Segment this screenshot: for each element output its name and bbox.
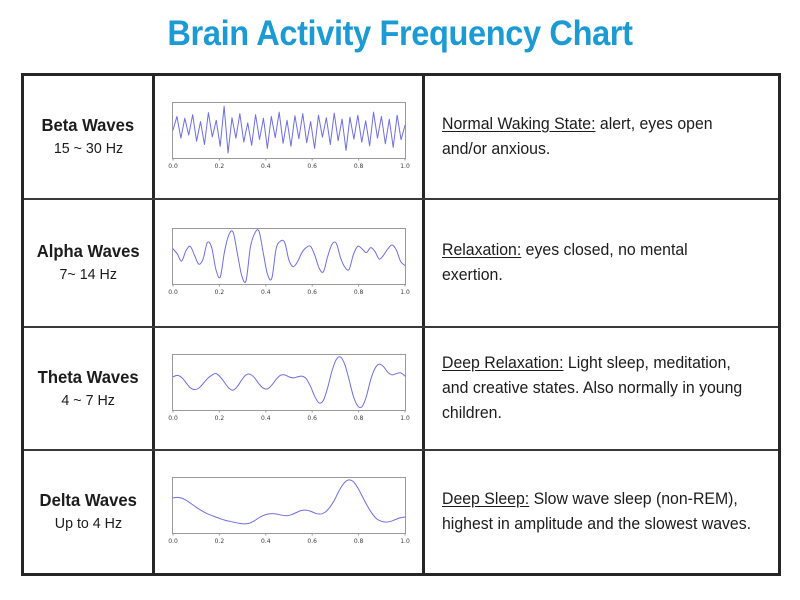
x-tick-label: 0.0 xyxy=(168,415,178,422)
x-tick-label: 1.0 xyxy=(400,538,410,545)
x-tick-label: 0.4 xyxy=(261,289,271,296)
waveform-svg: 0.00.20.40.60.81.0 xyxy=(167,100,411,174)
description-term: Deep Sleep: xyxy=(442,490,529,508)
description-term: Normal Waking State: xyxy=(442,115,595,133)
wave-name-cell: Beta Waves 15 ~ 30 Hz xyxy=(24,76,155,198)
wave-description-cell: Deep Sleep: Slow wave sleep (non-REM), h… xyxy=(425,451,778,573)
wave-frequency-label: Up to 4 Hz xyxy=(54,513,121,535)
x-axis-ticks: 0.00.20.40.60.81.0 xyxy=(168,158,410,170)
wave-description-cell: Relaxation: eyes closed, no mental exert… xyxy=(425,200,778,326)
x-tick-label: 0.2 xyxy=(214,415,224,422)
x-tick-label: 0.6 xyxy=(307,163,317,170)
wave-description-cell: Deep Relaxation: Light sleep, meditation… xyxy=(425,328,778,449)
wave-description: Normal Waking State: alert, eyes open an… xyxy=(442,112,751,162)
wave-frequency-label: 7~ 14 Hz xyxy=(59,264,116,286)
waveform-plot-beta: 0.00.20.40.60.81.0 xyxy=(167,100,411,174)
x-tick-label: 0.2 xyxy=(214,538,224,545)
waveform-plot-delta: 0.00.20.40.60.81.0 xyxy=(167,475,411,549)
x-tick-label: 0.4 xyxy=(261,538,271,545)
wave-description: Deep Sleep: Slow wave sleep (non-REM), h… xyxy=(442,487,751,537)
wave-name-cell: Theta Waves 4 ~ 7 Hz xyxy=(24,328,155,449)
x-tick-label: 1.0 xyxy=(400,289,410,296)
x-tick-label: 0.8 xyxy=(353,289,363,296)
brain-activity-chart-page: Brain Activity Frequency Chart Beta Wave… xyxy=(0,0,800,600)
wave-frequency-label: 15 ~ 30 Hz xyxy=(53,138,122,160)
waveform-svg: 0.00.20.40.60.81.0 xyxy=(167,226,411,300)
waveform-svg: 0.00.20.40.60.81.0 xyxy=(167,352,411,426)
wave-description-cell: Normal Waking State: alert, eyes open an… xyxy=(425,76,778,198)
wave-name-label: Theta Waves xyxy=(37,366,138,389)
x-tick-label: 0.6 xyxy=(307,538,317,545)
description-term: Relaxation: xyxy=(442,241,521,259)
x-tick-label: 0.4 xyxy=(261,415,271,422)
table-row: Delta Waves Up to 4 Hz 0.00.20.40.60.81.… xyxy=(24,451,778,573)
x-tick-label: 0.6 xyxy=(307,289,317,296)
x-tick-label: 0.8 xyxy=(353,163,363,170)
page-title: Brain Activity Frequency Chart xyxy=(28,14,772,54)
description-term: Deep Relaxation: xyxy=(442,354,564,372)
x-tick-label: 0.2 xyxy=(214,163,224,170)
wave-plot-cell: 0.00.20.40.60.81.0 xyxy=(155,328,425,449)
x-tick-label: 0.6 xyxy=(307,415,317,422)
x-tick-label: 0.0 xyxy=(168,163,178,170)
wave-description: Deep Relaxation: Light sleep, meditation… xyxy=(442,351,751,426)
wave-name-label: Delta Waves xyxy=(39,489,136,512)
x-axis-ticks: 0.00.20.40.60.81.0 xyxy=(168,284,410,296)
wave-frequency-label: 4 ~ 7 Hz xyxy=(61,390,114,412)
wave-plot-cell: 0.00.20.40.60.81.0 xyxy=(155,200,425,326)
x-tick-label: 0.4 xyxy=(261,163,271,170)
x-tick-label: 0.8 xyxy=(353,415,363,422)
x-tick-label: 0.0 xyxy=(168,289,178,296)
x-tick-label: 0.8 xyxy=(353,538,363,545)
wave-name-label: Beta Waves xyxy=(42,114,135,137)
table-row: Theta Waves 4 ~ 7 Hz 0.00.20.40.60.81.0 … xyxy=(24,328,778,451)
wave-plot-cell: 0.00.20.40.60.81.0 xyxy=(155,451,425,573)
x-tick-label: 1.0 xyxy=(400,163,410,170)
waveform-svg: 0.00.20.40.60.81.0 xyxy=(167,475,411,549)
x-axis-ticks: 0.00.20.40.60.81.0 xyxy=(168,533,410,545)
x-tick-label: 1.0 xyxy=(400,415,410,422)
wave-name-cell: Alpha Waves 7~ 14 Hz xyxy=(24,200,155,326)
x-axis-ticks: 0.00.20.40.60.81.0 xyxy=(168,410,410,422)
wave-name-label: Alpha Waves xyxy=(37,240,140,263)
table-row: Alpha Waves 7~ 14 Hz 0.00.20.40.60.81.0 … xyxy=(24,200,778,328)
brain-wave-table: Beta Waves 15 ~ 30 Hz 0.00.20.40.60.81.0… xyxy=(21,73,781,576)
table-row: Beta Waves 15 ~ 30 Hz 0.00.20.40.60.81.0… xyxy=(24,76,778,200)
wave-plot-cell: 0.00.20.40.60.81.0 xyxy=(155,76,425,198)
x-tick-label: 0.2 xyxy=(214,289,224,296)
waveform-plot-alpha: 0.00.20.40.60.81.0 xyxy=(167,226,411,300)
wave-description: Relaxation: eyes closed, no mental exert… xyxy=(442,238,751,288)
wave-name-cell: Delta Waves Up to 4 Hz xyxy=(24,451,155,573)
waveform-plot-theta: 0.00.20.40.60.81.0 xyxy=(167,352,411,426)
x-tick-label: 0.0 xyxy=(168,538,178,545)
